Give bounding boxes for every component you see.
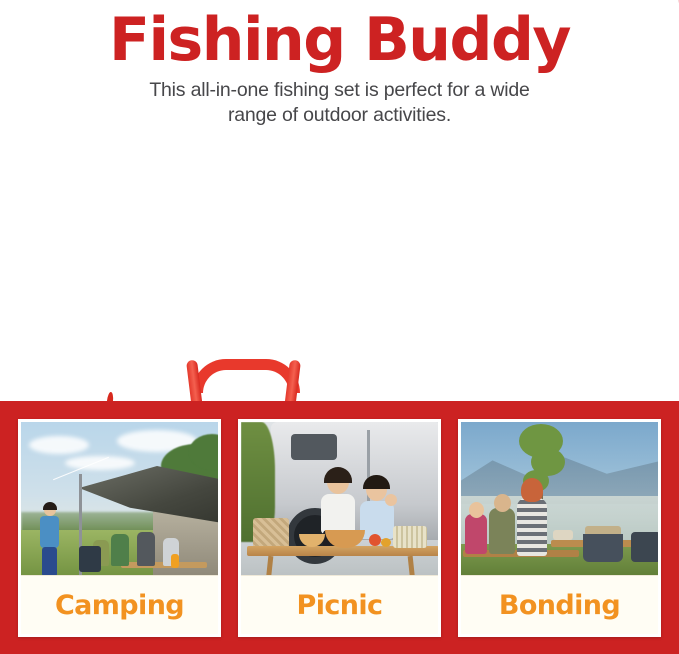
card-caption: Picnic: [241, 575, 438, 634]
hair: [324, 467, 352, 483]
hair: [363, 475, 390, 489]
picnic-photo: [241, 422, 438, 582]
subtitle-line-1: This all-in-one fishing set is perfect f…: [80, 78, 600, 103]
subtitle-line-2: range of outdoor activities.: [80, 103, 600, 128]
legs: [42, 547, 57, 577]
title-wrap: Fishing Buddy: [0, 0, 679, 72]
seated-person: [517, 498, 547, 556]
card-caption: Bonding: [461, 575, 658, 634]
seated-person: [137, 532, 155, 566]
van-window: [291, 434, 337, 460]
tableware: [553, 530, 573, 540]
product-scene: DaddyGofish DaddyGofish: [0, 155, 679, 398]
bonding-photo: [461, 422, 658, 582]
camp-chair: [631, 532, 658, 562]
camp-chair: [583, 534, 623, 562]
bag-handle-arc: [192, 359, 300, 393]
boy-flying-kite: [39, 504, 61, 578]
card-caption: Camping: [21, 575, 218, 634]
waving-hand: [385, 494, 397, 506]
fruit: [381, 538, 391, 547]
camping-photo: [21, 422, 218, 582]
page-subtitle: This all-in-one fishing set is perfect f…: [80, 78, 600, 128]
product-infographic: Fishing Buddy This all-in-one fishing se…: [0, 0, 679, 654]
seated-person: [465, 514, 487, 554]
activity-label-camping: Camping: [55, 590, 184, 621]
cloud: [65, 456, 135, 470]
seated-person: [111, 534, 129, 566]
head: [469, 502, 484, 518]
activity-label-picnic: Picnic: [297, 590, 383, 621]
head: [494, 494, 511, 512]
cloud: [29, 436, 89, 454]
header-section: Fishing Buddy This all-in-one fishing se…: [0, 0, 679, 150]
torso: [321, 494, 355, 534]
torso: [360, 501, 394, 539]
seated-person: [489, 508, 515, 554]
torso: [40, 516, 59, 548]
picnic-basket: [253, 518, 289, 548]
fruit: [369, 534, 381, 546]
camp-chair: [79, 546, 101, 572]
activity-label-bonding: Bonding: [499, 590, 620, 621]
sparkle-burst-icon: [673, 0, 679, 42]
hair: [43, 502, 57, 510]
activity-card-bonding[interactable]: Bonding: [458, 419, 661, 637]
head: [521, 478, 543, 502]
activity-card-camping[interactable]: Camping: [18, 419, 221, 637]
page-title: Fishing Buddy: [109, 8, 570, 72]
activity-cards: Camping: [18, 419, 661, 637]
snack-tray: [393, 526, 427, 548]
activities-band: Camping: [0, 401, 679, 654]
drink-bottle: [171, 554, 179, 568]
activity-card-picnic[interactable]: Picnic: [238, 419, 441, 637]
